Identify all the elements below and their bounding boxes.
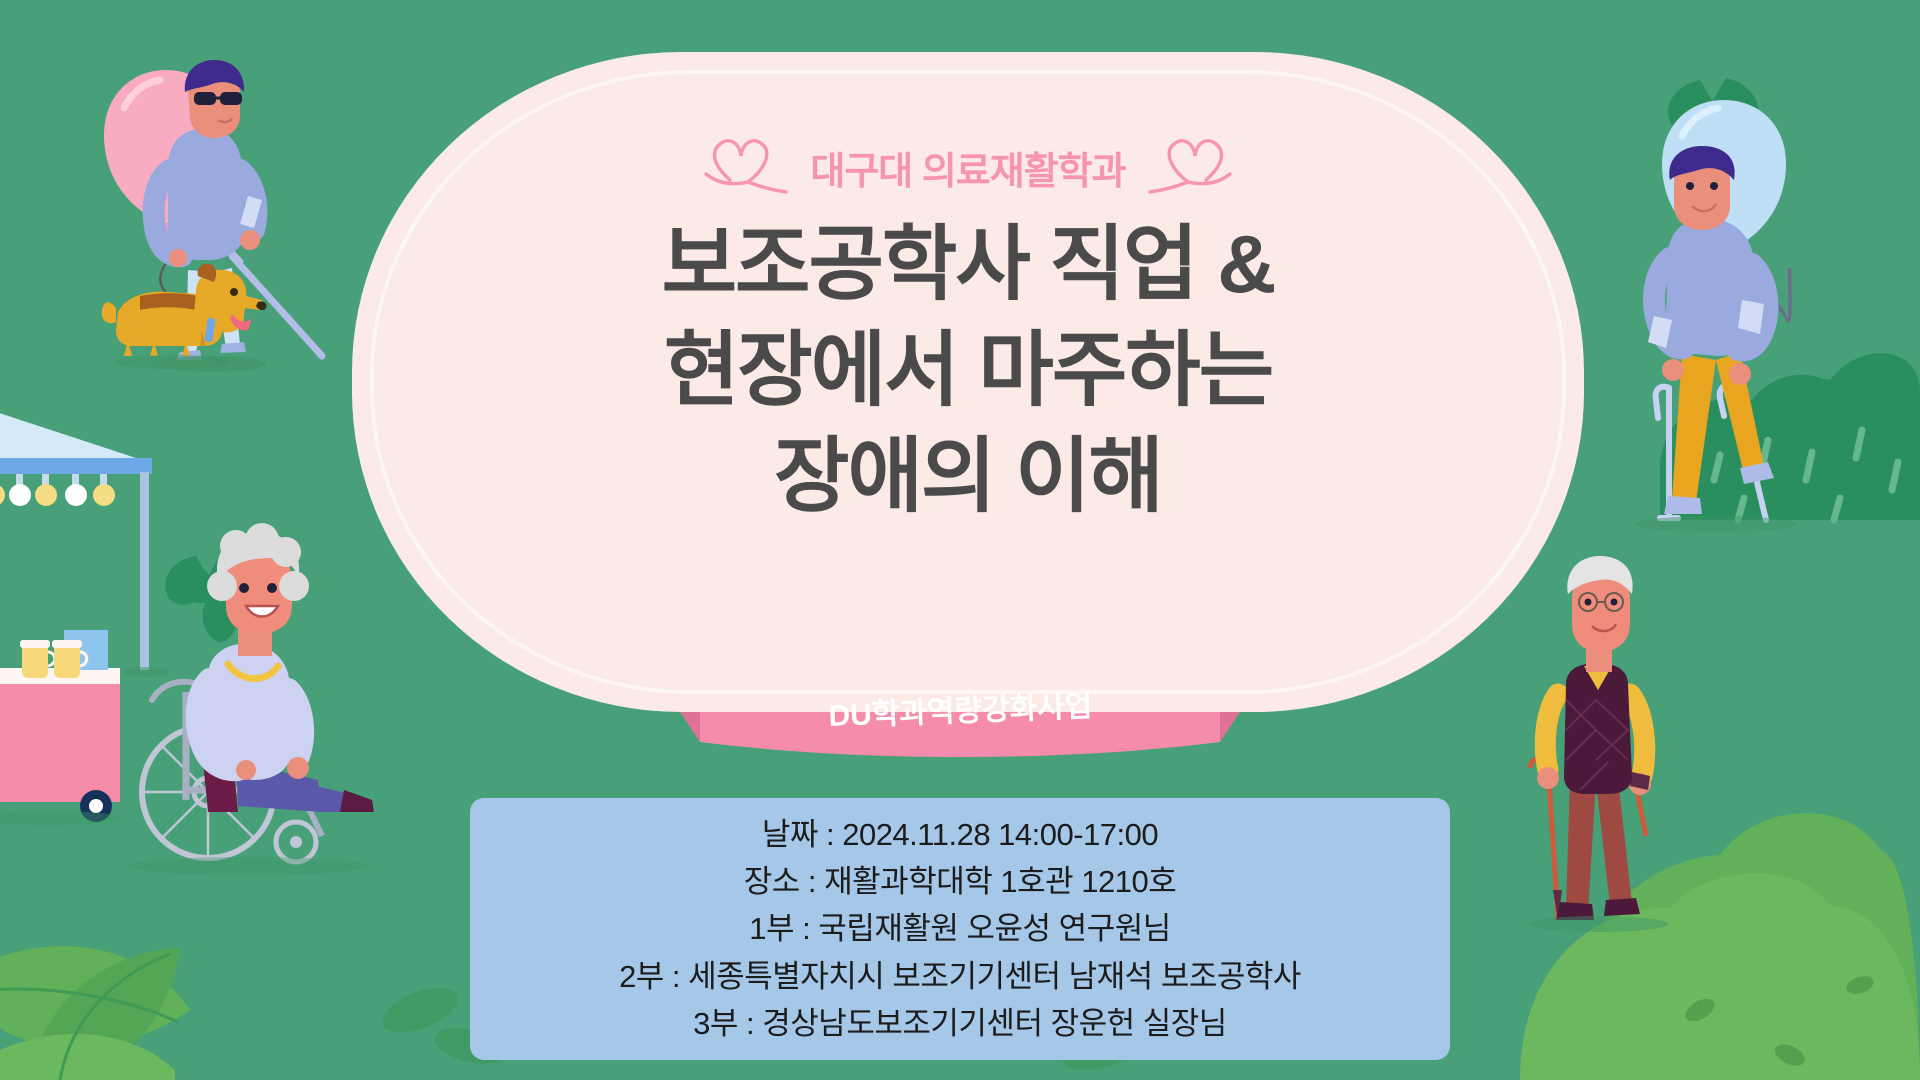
poster-title-line-1: 보조공학사 직업 & [662,220,1275,310]
eyebrow-text: 대구대 의료재활학과 [810,140,1125,195]
ribbon-banner: DU학과역량강화사업 [640,640,1280,760]
info-line-venue: 장소 : 재활과학대학 1호관 1210호 [744,858,1177,905]
heart-icon [696,130,792,204]
info-line-date: 날짜 : 2024.11.28 14:00-17:00 [762,811,1158,858]
event-info-box: 날짜 : 2024.11.28 14:00-17:00 장소 : 재활과학대학 … [470,798,1450,1060]
poster-title-line-2: 현장에서 마주하는 [664,326,1272,416]
info-line-session-3: 3부 : 경상남도보조기기센터 장운헌 실장님 [693,1000,1227,1047]
ribbon-label: DU학과역량강화사업 [638,628,1282,772]
poster-title-line-3: 장애의 이해 [774,432,1162,522]
info-line-session-2: 2부 : 세종특별자치시 보조기기센터 남재석 보조공학사 [619,953,1301,1000]
heart-icon-right [1144,130,1240,204]
poster-canvas: 대구대 의료재활학과 보조공학사 직업 & 현장에서 마주하는 장애의 이해 D… [0,0,1920,1080]
eyebrow-row: 대구대 의료재활학과 [696,130,1239,204]
title-card-content: 대구대 의료재활학과 보조공학사 직업 & 현장에서 마주하는 장애의 이해 [352,52,1584,712]
bottom-left-leaves [0,946,190,1080]
info-line-session-1: 1부 : 국립재활원 오윤성 연구원님 [749,905,1171,952]
